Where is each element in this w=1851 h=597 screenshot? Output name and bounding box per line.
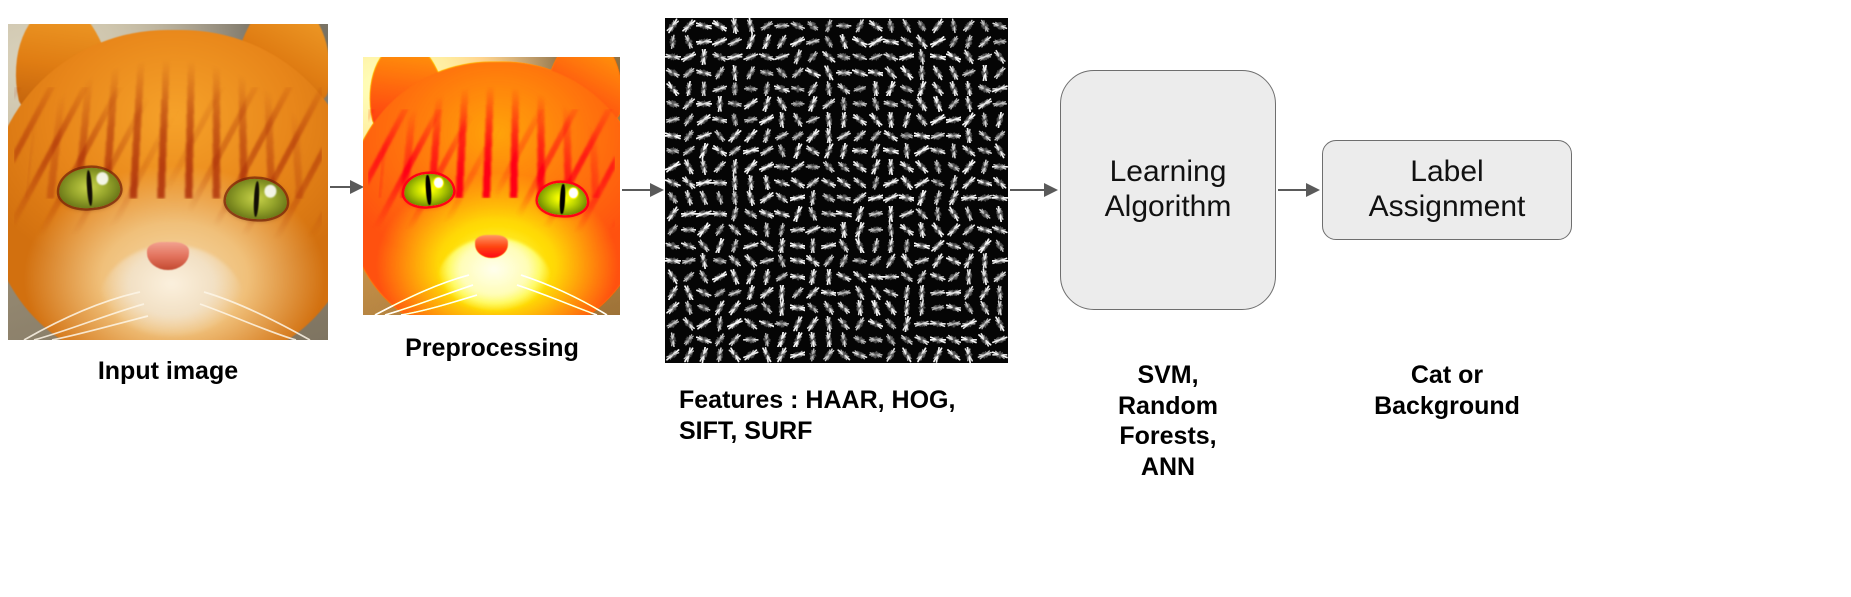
hog-cell	[852, 128, 868, 144]
cat-cheek-stripes	[14, 87, 321, 251]
hog-cell	[759, 269, 775, 285]
hog-cell	[712, 206, 728, 222]
hog-cell	[821, 253, 837, 269]
hog-cell	[836, 159, 852, 175]
hog-cell	[883, 222, 899, 238]
hog-cell	[821, 285, 837, 301]
hog-cell	[852, 332, 868, 348]
hog-cell	[712, 18, 728, 34]
hog-cell	[852, 49, 868, 65]
hog-cell	[743, 175, 759, 191]
hog-cell	[774, 206, 790, 222]
hog-cell	[852, 206, 868, 222]
hog-cell	[681, 206, 697, 222]
hog-cell	[727, 143, 743, 159]
hog-cell	[868, 128, 884, 144]
hog-cell	[743, 65, 759, 81]
hog-cell	[961, 49, 977, 65]
hog-cell	[852, 285, 868, 301]
hog-cell	[743, 300, 759, 316]
hog-cell	[759, 112, 775, 128]
hog-feature-visualization	[665, 18, 1008, 363]
hog-cell	[977, 81, 993, 97]
hog-cell	[961, 316, 977, 332]
hog-cell	[961, 269, 977, 285]
hog-cell	[868, 96, 884, 112]
hog-cell	[681, 143, 697, 159]
arrow-features-to-learning	[1010, 175, 1060, 205]
hog-cell	[759, 128, 775, 144]
hog-cell	[836, 128, 852, 144]
pipeline-diagram: Input image	[0, 0, 1851, 597]
hog-cell	[790, 65, 806, 81]
hog-cell	[774, 238, 790, 254]
hog-cell	[805, 49, 821, 65]
hog-cell	[727, 96, 743, 112]
hog-cell	[836, 175, 852, 191]
hog-cell	[681, 159, 697, 175]
hog-cell	[946, 34, 962, 50]
hog-cell	[852, 300, 868, 316]
hog-cell	[868, 175, 884, 191]
hog-cell	[821, 34, 837, 50]
hog-cell	[836, 269, 852, 285]
hog-cell	[946, 238, 962, 254]
hog-cell	[977, 300, 993, 316]
hog-cell	[665, 65, 681, 81]
hog-cell	[992, 347, 1008, 363]
hog-cell	[774, 96, 790, 112]
hog-cell	[727, 34, 743, 50]
hog-cell	[790, 128, 806, 144]
hog-cell	[883, 316, 899, 332]
hog-cell	[868, 347, 884, 363]
hog-cell	[930, 206, 946, 222]
hog-cell	[743, 49, 759, 65]
hog-cell	[992, 128, 1008, 144]
hog-cell	[836, 347, 852, 363]
hog-cell	[790, 285, 806, 301]
hog-cell	[696, 112, 712, 128]
hog-cell	[899, 49, 915, 65]
hog-cell	[681, 18, 697, 34]
hog-cell	[992, 316, 1008, 332]
hog-cell	[992, 269, 1008, 285]
hog-cell	[883, 175, 899, 191]
hog-cell	[961, 65, 977, 81]
hog-cell	[946, 285, 962, 301]
hog-cell	[790, 269, 806, 285]
hog-cell	[665, 159, 681, 175]
hog-cell	[868, 49, 884, 65]
hog-cell	[821, 65, 837, 81]
learning-algorithm-box[interactable]: Learning Algorithm	[1060, 70, 1276, 310]
hog-cell	[836, 253, 852, 269]
label-assignment-label: Label Assignment	[1369, 155, 1526, 225]
hog-cell	[696, 253, 712, 269]
hog-cell	[743, 285, 759, 301]
hog-cell	[712, 34, 728, 50]
hog-cell	[899, 112, 915, 128]
hog-cell	[992, 143, 1008, 159]
hog-cell	[961, 96, 977, 112]
hog-cell	[774, 253, 790, 269]
hog-cell	[696, 269, 712, 285]
hog-cell	[821, 347, 837, 363]
hog-cell	[946, 65, 962, 81]
hog-cell	[696, 316, 712, 332]
hog-cell	[712, 128, 728, 144]
hog-cell	[712, 238, 728, 254]
hog-cell	[961, 206, 977, 222]
cat-cheek-stripes	[368, 109, 615, 243]
hog-cell	[914, 222, 930, 238]
hog-cell	[852, 81, 868, 97]
hog-cell	[883, 65, 899, 81]
hog-cell	[930, 222, 946, 238]
label-assignment-box[interactable]: Label Assignment	[1322, 140, 1572, 240]
hog-cell	[712, 269, 728, 285]
hog-cell	[977, 285, 993, 301]
hog-cell	[868, 222, 884, 238]
hog-cell	[899, 347, 915, 363]
hog-cell	[727, 112, 743, 128]
hog-cell	[899, 128, 915, 144]
hog-cell	[992, 18, 1008, 34]
hog-cell	[883, 238, 899, 254]
hog-cell	[759, 159, 775, 175]
hog-cell	[681, 222, 697, 238]
hog-cell	[665, 206, 681, 222]
hog-cell	[914, 159, 930, 175]
hog-cell	[914, 253, 930, 269]
hog-cell	[899, 269, 915, 285]
hog-cell	[930, 18, 946, 34]
hog-cell	[961, 159, 977, 175]
hog-cell	[743, 81, 759, 97]
hog-cell	[759, 285, 775, 301]
hog-cell	[696, 285, 712, 301]
hog-cell	[961, 332, 977, 348]
hog-cell	[946, 190, 962, 206]
hog-cell	[977, 190, 993, 206]
hog-cell	[899, 65, 915, 81]
hog-cell	[914, 206, 930, 222]
hog-cell	[727, 316, 743, 332]
hog-cell	[743, 96, 759, 112]
hog-cell	[805, 175, 821, 191]
hog-cell	[883, 143, 899, 159]
hog-cell	[930, 128, 946, 144]
hog-cell	[681, 96, 697, 112]
hog-cell	[743, 34, 759, 50]
hog-cell	[930, 269, 946, 285]
hog-cell	[836, 300, 852, 316]
hog-cell	[977, 253, 993, 269]
hog-cell	[930, 347, 946, 363]
hog-cell	[977, 143, 993, 159]
hog-cell	[930, 65, 946, 81]
hog-cell	[759, 18, 775, 34]
hog-cell	[712, 222, 728, 238]
hog-cell	[665, 112, 681, 128]
hog-cell	[914, 34, 930, 50]
hog-cell	[759, 347, 775, 363]
hog-cell	[727, 206, 743, 222]
hog-cell	[805, 190, 821, 206]
hog-cell	[774, 128, 790, 144]
hog-cell	[743, 332, 759, 348]
hog-cell	[759, 34, 775, 50]
hog-cell	[946, 112, 962, 128]
hog-cell	[914, 347, 930, 363]
hog-cell	[821, 332, 837, 348]
hog-cell	[696, 347, 712, 363]
hog-cell	[930, 332, 946, 348]
hog-cell	[961, 128, 977, 144]
preprocessed-image-photo	[363, 57, 620, 315]
hog-cell	[883, 332, 899, 348]
arrow-preprocessing-to-features	[622, 175, 666, 205]
hog-cell	[712, 81, 728, 97]
cat-pupil-right	[253, 180, 260, 217]
hog-cell	[696, 18, 712, 34]
hog-cell	[852, 238, 868, 254]
hog-cell	[681, 34, 697, 50]
hog-cell	[774, 190, 790, 206]
hog-cell	[681, 269, 697, 285]
hog-cell	[759, 238, 775, 254]
hog-cell	[665, 18, 681, 34]
hog-cell	[930, 96, 946, 112]
hog-cell	[805, 18, 821, 34]
hog-cell	[712, 300, 728, 316]
hog-cell	[727, 175, 743, 191]
hog-cell	[759, 81, 775, 97]
hog-cell	[977, 238, 993, 254]
hog-cell	[946, 18, 962, 34]
hog-cell	[977, 206, 993, 222]
hog-cell	[774, 332, 790, 348]
hog-cell	[790, 112, 806, 128]
cat-pupil-left	[86, 169, 94, 206]
hog-cell	[790, 206, 806, 222]
hog-cell	[914, 190, 930, 206]
hog-cell	[914, 285, 930, 301]
hog-cell	[712, 49, 728, 65]
hog-cell	[821, 81, 837, 97]
hog-cell	[883, 347, 899, 363]
hog-cell	[774, 222, 790, 238]
hog-cell	[665, 96, 681, 112]
hog-cell	[805, 332, 821, 348]
hog-cell	[805, 238, 821, 254]
hog-cell	[790, 190, 806, 206]
hog-cell	[774, 285, 790, 301]
hog-cell	[914, 65, 930, 81]
hog-cell	[821, 96, 837, 112]
hog-cell	[774, 112, 790, 128]
hog-cell	[727, 300, 743, 316]
hog-cell	[836, 206, 852, 222]
hog-cell	[712, 175, 728, 191]
hog-cell	[836, 34, 852, 50]
hog-cell	[681, 112, 697, 128]
hog-cell	[852, 222, 868, 238]
hog-cell	[992, 81, 1008, 97]
hog-cell	[805, 34, 821, 50]
hog-cell	[961, 190, 977, 206]
hog-cell	[712, 253, 728, 269]
hog-cell	[696, 65, 712, 81]
hog-cell	[930, 159, 946, 175]
hog-cell	[992, 34, 1008, 50]
hog-cell	[992, 238, 1008, 254]
hog-cell	[790, 18, 806, 34]
hog-cell	[774, 300, 790, 316]
hog-cell	[977, 159, 993, 175]
hog-cell	[774, 159, 790, 175]
hog-cell	[914, 332, 930, 348]
hog-cell	[681, 175, 697, 191]
hog-cell	[930, 143, 946, 159]
hog-cell	[977, 18, 993, 34]
hog-cell	[961, 347, 977, 363]
hog-cell	[914, 128, 930, 144]
hog-cell	[665, 347, 681, 363]
hog-cell	[681, 81, 697, 97]
hog-cell	[883, 128, 899, 144]
hog-cell	[836, 316, 852, 332]
cat-eye-glint-right	[263, 184, 276, 198]
hog-cell	[790, 347, 806, 363]
hog-cell	[727, 238, 743, 254]
hog-cell	[836, 222, 852, 238]
caption-label-result: Cat or Background	[1322, 360, 1572, 421]
hog-cell	[665, 300, 681, 316]
hog-cell	[868, 18, 884, 34]
hog-cell	[868, 34, 884, 50]
hog-cell	[665, 269, 681, 285]
hog-cell	[899, 175, 915, 191]
hog-cell	[899, 238, 915, 254]
hog-cell	[696, 175, 712, 191]
hog-cell	[852, 18, 868, 34]
hog-cell	[977, 128, 993, 144]
hog-cell	[914, 300, 930, 316]
hog-cell	[743, 143, 759, 159]
hog-cell	[743, 128, 759, 144]
hog-cell	[868, 81, 884, 97]
hog-cell	[914, 269, 930, 285]
hog-cell	[899, 81, 915, 97]
hog-cell	[946, 143, 962, 159]
hog-cell	[868, 190, 884, 206]
hog-cell	[712, 65, 728, 81]
hog-cell	[852, 159, 868, 175]
hog-cell	[790, 300, 806, 316]
hog-cell	[696, 332, 712, 348]
hog-cell	[852, 65, 868, 81]
hog-cell	[852, 175, 868, 191]
hog-cell	[759, 222, 775, 238]
hog-cell	[883, 190, 899, 206]
hog-cell	[868, 112, 884, 128]
hog-cell	[790, 175, 806, 191]
hog-cell	[712, 143, 728, 159]
hog-cell	[899, 300, 915, 316]
hog-cell	[790, 96, 806, 112]
hog-cell	[821, 206, 837, 222]
hog-cell	[883, 96, 899, 112]
hog-cell	[977, 175, 993, 191]
cat-pupil-left	[426, 176, 432, 206]
hog-cell	[696, 96, 712, 112]
hog-cell	[914, 18, 930, 34]
hog-cell	[899, 190, 915, 206]
hog-cell	[914, 143, 930, 159]
hog-cell	[836, 143, 852, 159]
hog-cell	[805, 253, 821, 269]
hog-cell	[852, 112, 868, 128]
hog-cell	[805, 112, 821, 128]
arrow-input-to-preprocessing	[330, 172, 366, 202]
hog-cell	[696, 300, 712, 316]
hog-cell	[836, 18, 852, 34]
hog-cell	[836, 332, 852, 348]
hog-cell	[977, 96, 993, 112]
hog-cell	[836, 238, 852, 254]
hog-cell	[790, 253, 806, 269]
hog-cell	[665, 222, 681, 238]
hog-cell-grid	[665, 18, 1008, 363]
hog-cell	[727, 285, 743, 301]
hog-cell	[774, 143, 790, 159]
hog-cell	[930, 81, 946, 97]
hog-cell	[805, 316, 821, 332]
hog-cell	[899, 18, 915, 34]
hog-cell	[681, 332, 697, 348]
hog-cell	[852, 34, 868, 50]
hog-cell	[883, 159, 899, 175]
hog-cell	[696, 206, 712, 222]
hog-cell	[836, 112, 852, 128]
hog-cell	[914, 238, 930, 254]
hog-cell	[727, 65, 743, 81]
hog-cell	[743, 316, 759, 332]
hog-cell	[821, 143, 837, 159]
hog-cell	[681, 128, 697, 144]
hog-cell	[712, 285, 728, 301]
arrow-learning-to-label	[1278, 175, 1322, 205]
hog-cell	[899, 285, 915, 301]
hog-cell	[914, 81, 930, 97]
hog-cell	[790, 34, 806, 50]
hog-cell	[727, 18, 743, 34]
hog-cell	[930, 190, 946, 206]
hog-cell	[946, 332, 962, 348]
hog-cell	[712, 112, 728, 128]
hog-cell	[665, 175, 681, 191]
caption-input-image: Input image	[8, 356, 328, 387]
hog-cell	[992, 332, 1008, 348]
hog-cell	[681, 253, 697, 269]
hog-cell	[961, 34, 977, 50]
hog-cell	[665, 190, 681, 206]
hog-cell	[681, 300, 697, 316]
hog-cell	[930, 300, 946, 316]
hog-cell	[961, 285, 977, 301]
